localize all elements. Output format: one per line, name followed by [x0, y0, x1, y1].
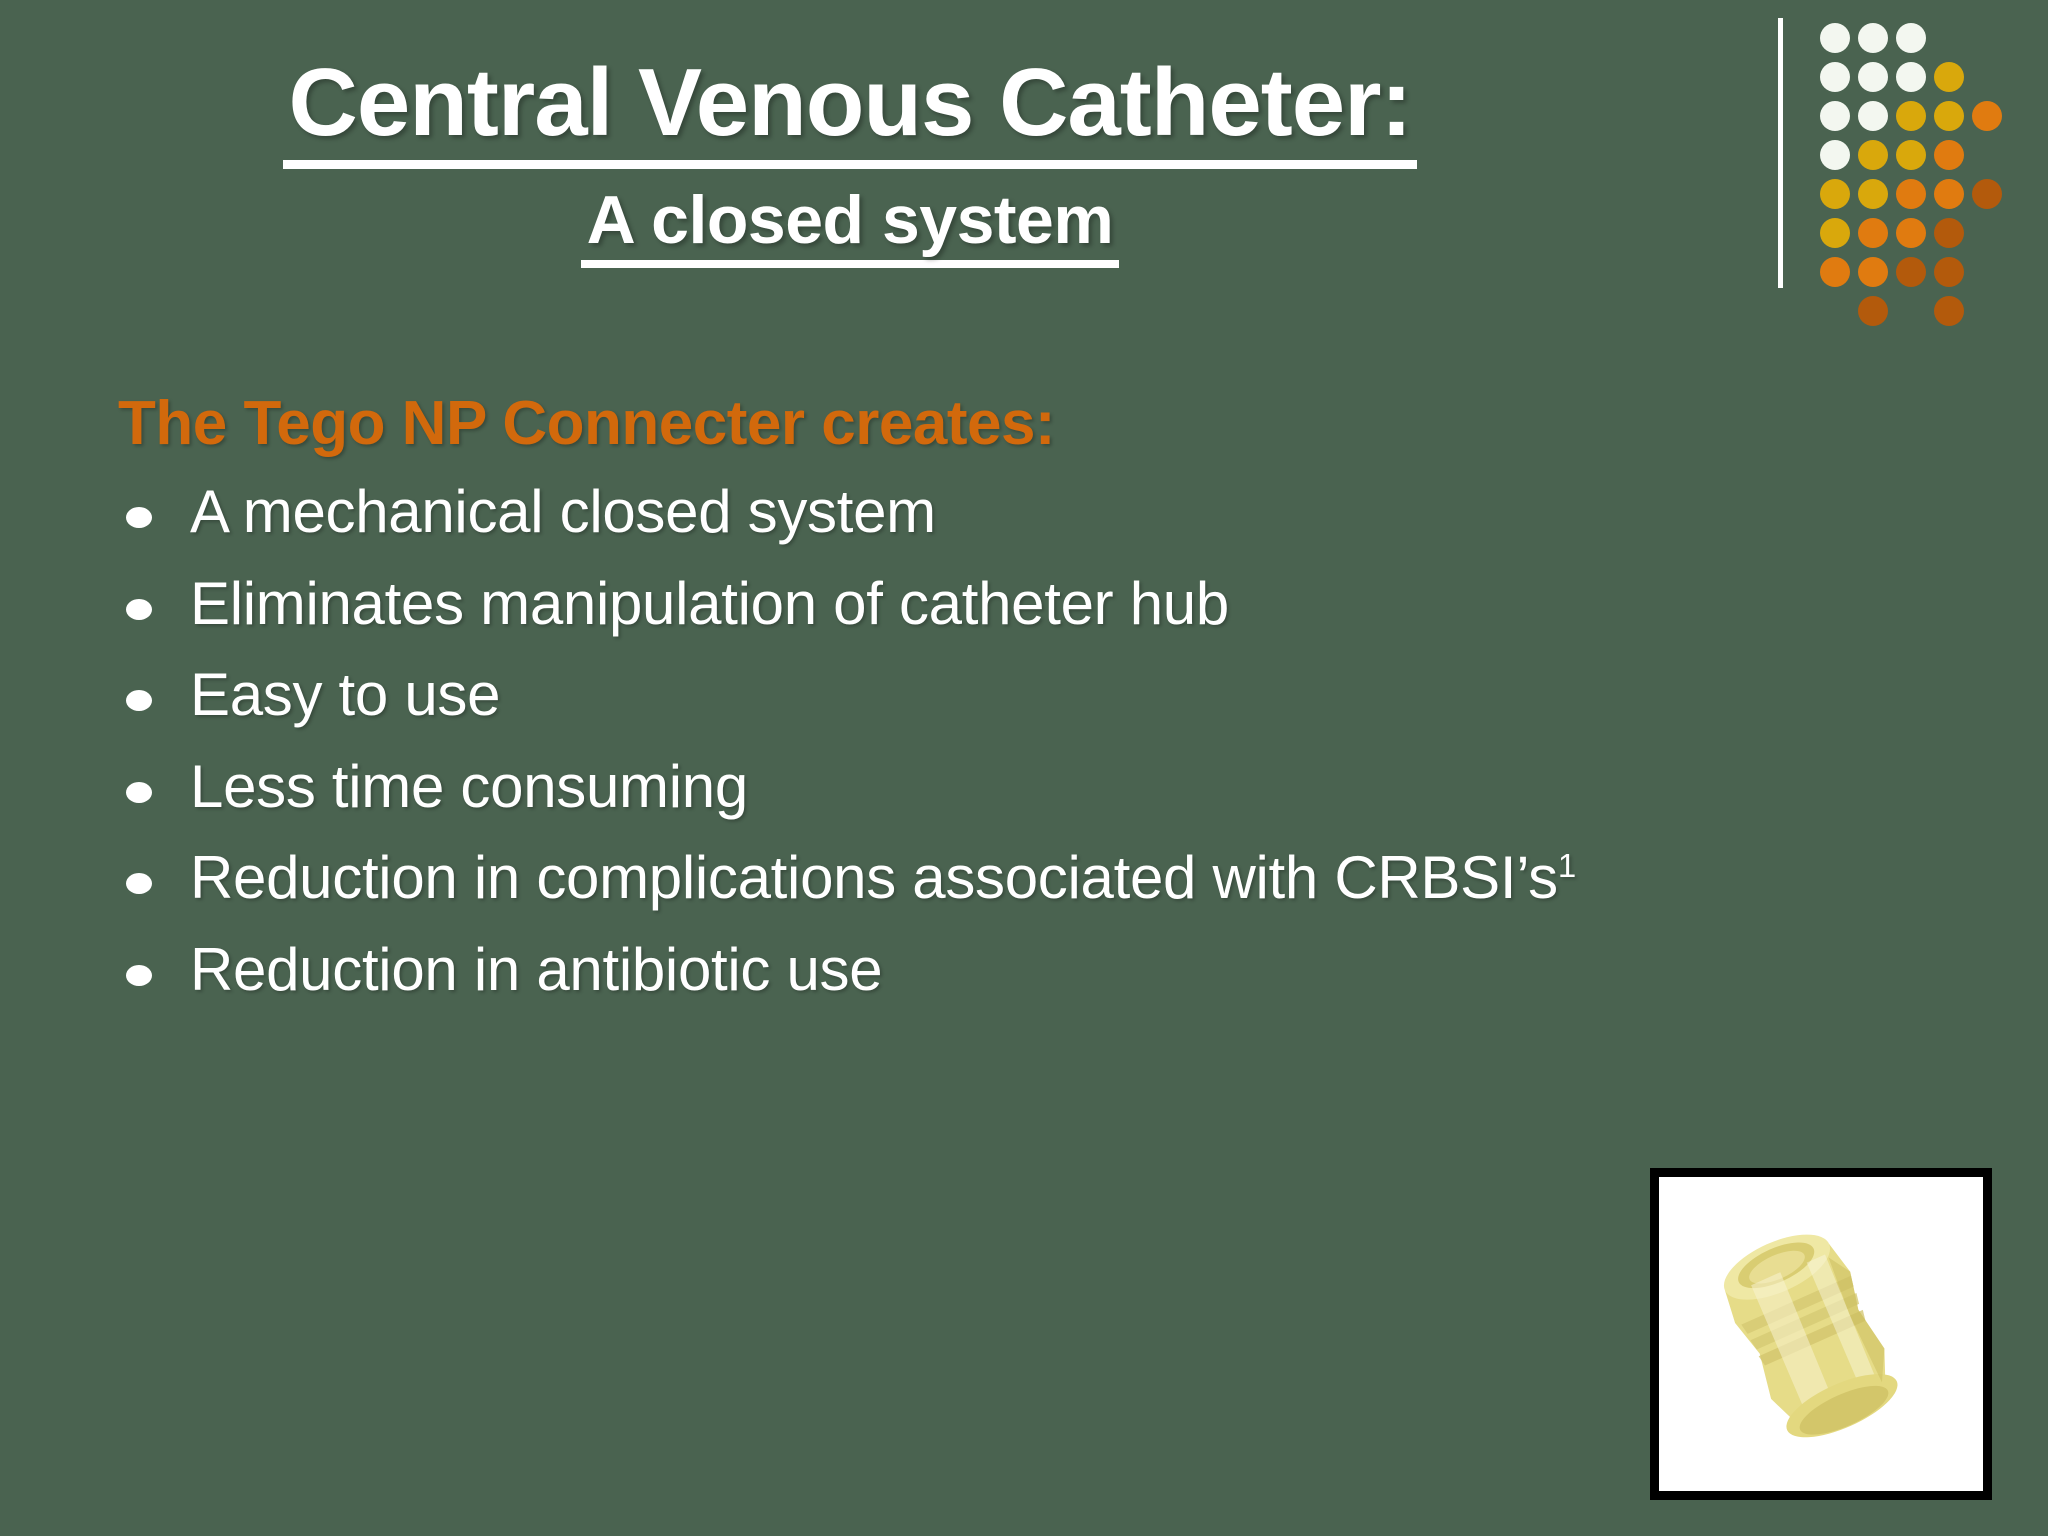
bullet-marker-icon [126, 873, 152, 894]
bullet-item: Eliminates manipulation of catheter hub [118, 569, 1908, 639]
dot-o [1934, 140, 1964, 170]
dot-row [1820, 218, 2010, 257]
dot-g [1858, 179, 1888, 209]
bullet-marker-icon [126, 599, 152, 620]
title-block: Central Venous Catheter: A closed system [0, 52, 1700, 268]
dot-w [1820, 140, 1850, 170]
bullet-text: A mechanical closed system [190, 478, 936, 545]
dot-row [1820, 23, 2010, 62]
dot-row [1820, 179, 2010, 218]
dot-o [1896, 179, 1926, 209]
bullet-item: Reduction in complications associated wi… [118, 843, 1890, 913]
product-photo [1650, 1168, 1992, 1500]
bullet-marker-icon [126, 965, 152, 986]
bullet-item: Reduction in antibiotic use [118, 935, 1908, 1005]
dot-d [1972, 179, 2002, 209]
content-body: The Tego NP Connecter creates: A mechani… [118, 388, 1908, 1027]
dot-w [1858, 101, 1888, 131]
dot-d [1858, 296, 1888, 326]
bullet-marker-icon [126, 782, 152, 803]
dot-d [1934, 257, 1964, 287]
dot-row [1820, 62, 2010, 101]
dot-w [1896, 23, 1926, 53]
dot-row [1820, 101, 2010, 140]
connector-illustration [1659, 1177, 1983, 1491]
dot-w [1858, 62, 1888, 92]
dot-blank [1896, 296, 1926, 326]
dot-blank [1820, 296, 1850, 326]
bullet-text: Reduction in complications associated wi… [190, 844, 1576, 911]
dot-row [1820, 296, 2010, 335]
dot-w [1858, 23, 1888, 53]
dot-g [1934, 101, 1964, 131]
page-subtitle: A closed system [581, 185, 1120, 268]
dot-g [1896, 101, 1926, 131]
subtitle-row: A closed system [0, 185, 1700, 268]
bullet-marker-icon [126, 690, 152, 711]
dot-w [1820, 62, 1850, 92]
dot-g [1896, 140, 1926, 170]
dot-g [1934, 62, 1964, 92]
dot-g [1820, 179, 1850, 209]
dot-d [1934, 218, 1964, 248]
dot-o [1896, 218, 1926, 248]
lead-in-heading: The Tego NP Connecter creates: [118, 388, 1908, 459]
bullet-item: A mechanical closed system [118, 477, 1908, 547]
bullet-item: Less time consuming [118, 752, 1908, 822]
dot-d [1896, 257, 1926, 287]
bullet-item: Easy to use [118, 660, 1908, 730]
slide-canvas: Central Venous Catheter: A closed system… [0, 0, 2048, 1536]
dot-o [1858, 218, 1888, 248]
dot-d [1934, 296, 1964, 326]
dot-w [1820, 23, 1850, 53]
bullet-text: Eliminates manipulation of catheter hub [190, 570, 1229, 637]
dot-w [1820, 101, 1850, 131]
dot-row [1820, 257, 2010, 296]
dot-o [1820, 257, 1850, 287]
dot-o [1858, 257, 1888, 287]
bullet-text: Easy to use [190, 661, 500, 728]
footnote-reference: 1 [1558, 847, 1576, 884]
dot-o [1934, 179, 1964, 209]
dot-g [1858, 140, 1888, 170]
bullet-marker-icon [126, 507, 152, 528]
dot-grid-pattern [1820, 23, 2010, 335]
dot-g [1820, 218, 1850, 248]
bullet-text: Reduction in antibiotic use [190, 936, 882, 1003]
bullet-text: Less time consuming [190, 753, 748, 820]
dot-w [1896, 62, 1926, 92]
decorative-dot-grid [1778, 18, 2048, 318]
dot-o [1972, 101, 2002, 131]
vertical-rule-divider [1778, 18, 1783, 288]
page-title: Central Venous Catheter: [283, 52, 1418, 169]
dot-row [1820, 140, 2010, 179]
bullet-list: A mechanical closed systemEliminates man… [118, 477, 1908, 1005]
